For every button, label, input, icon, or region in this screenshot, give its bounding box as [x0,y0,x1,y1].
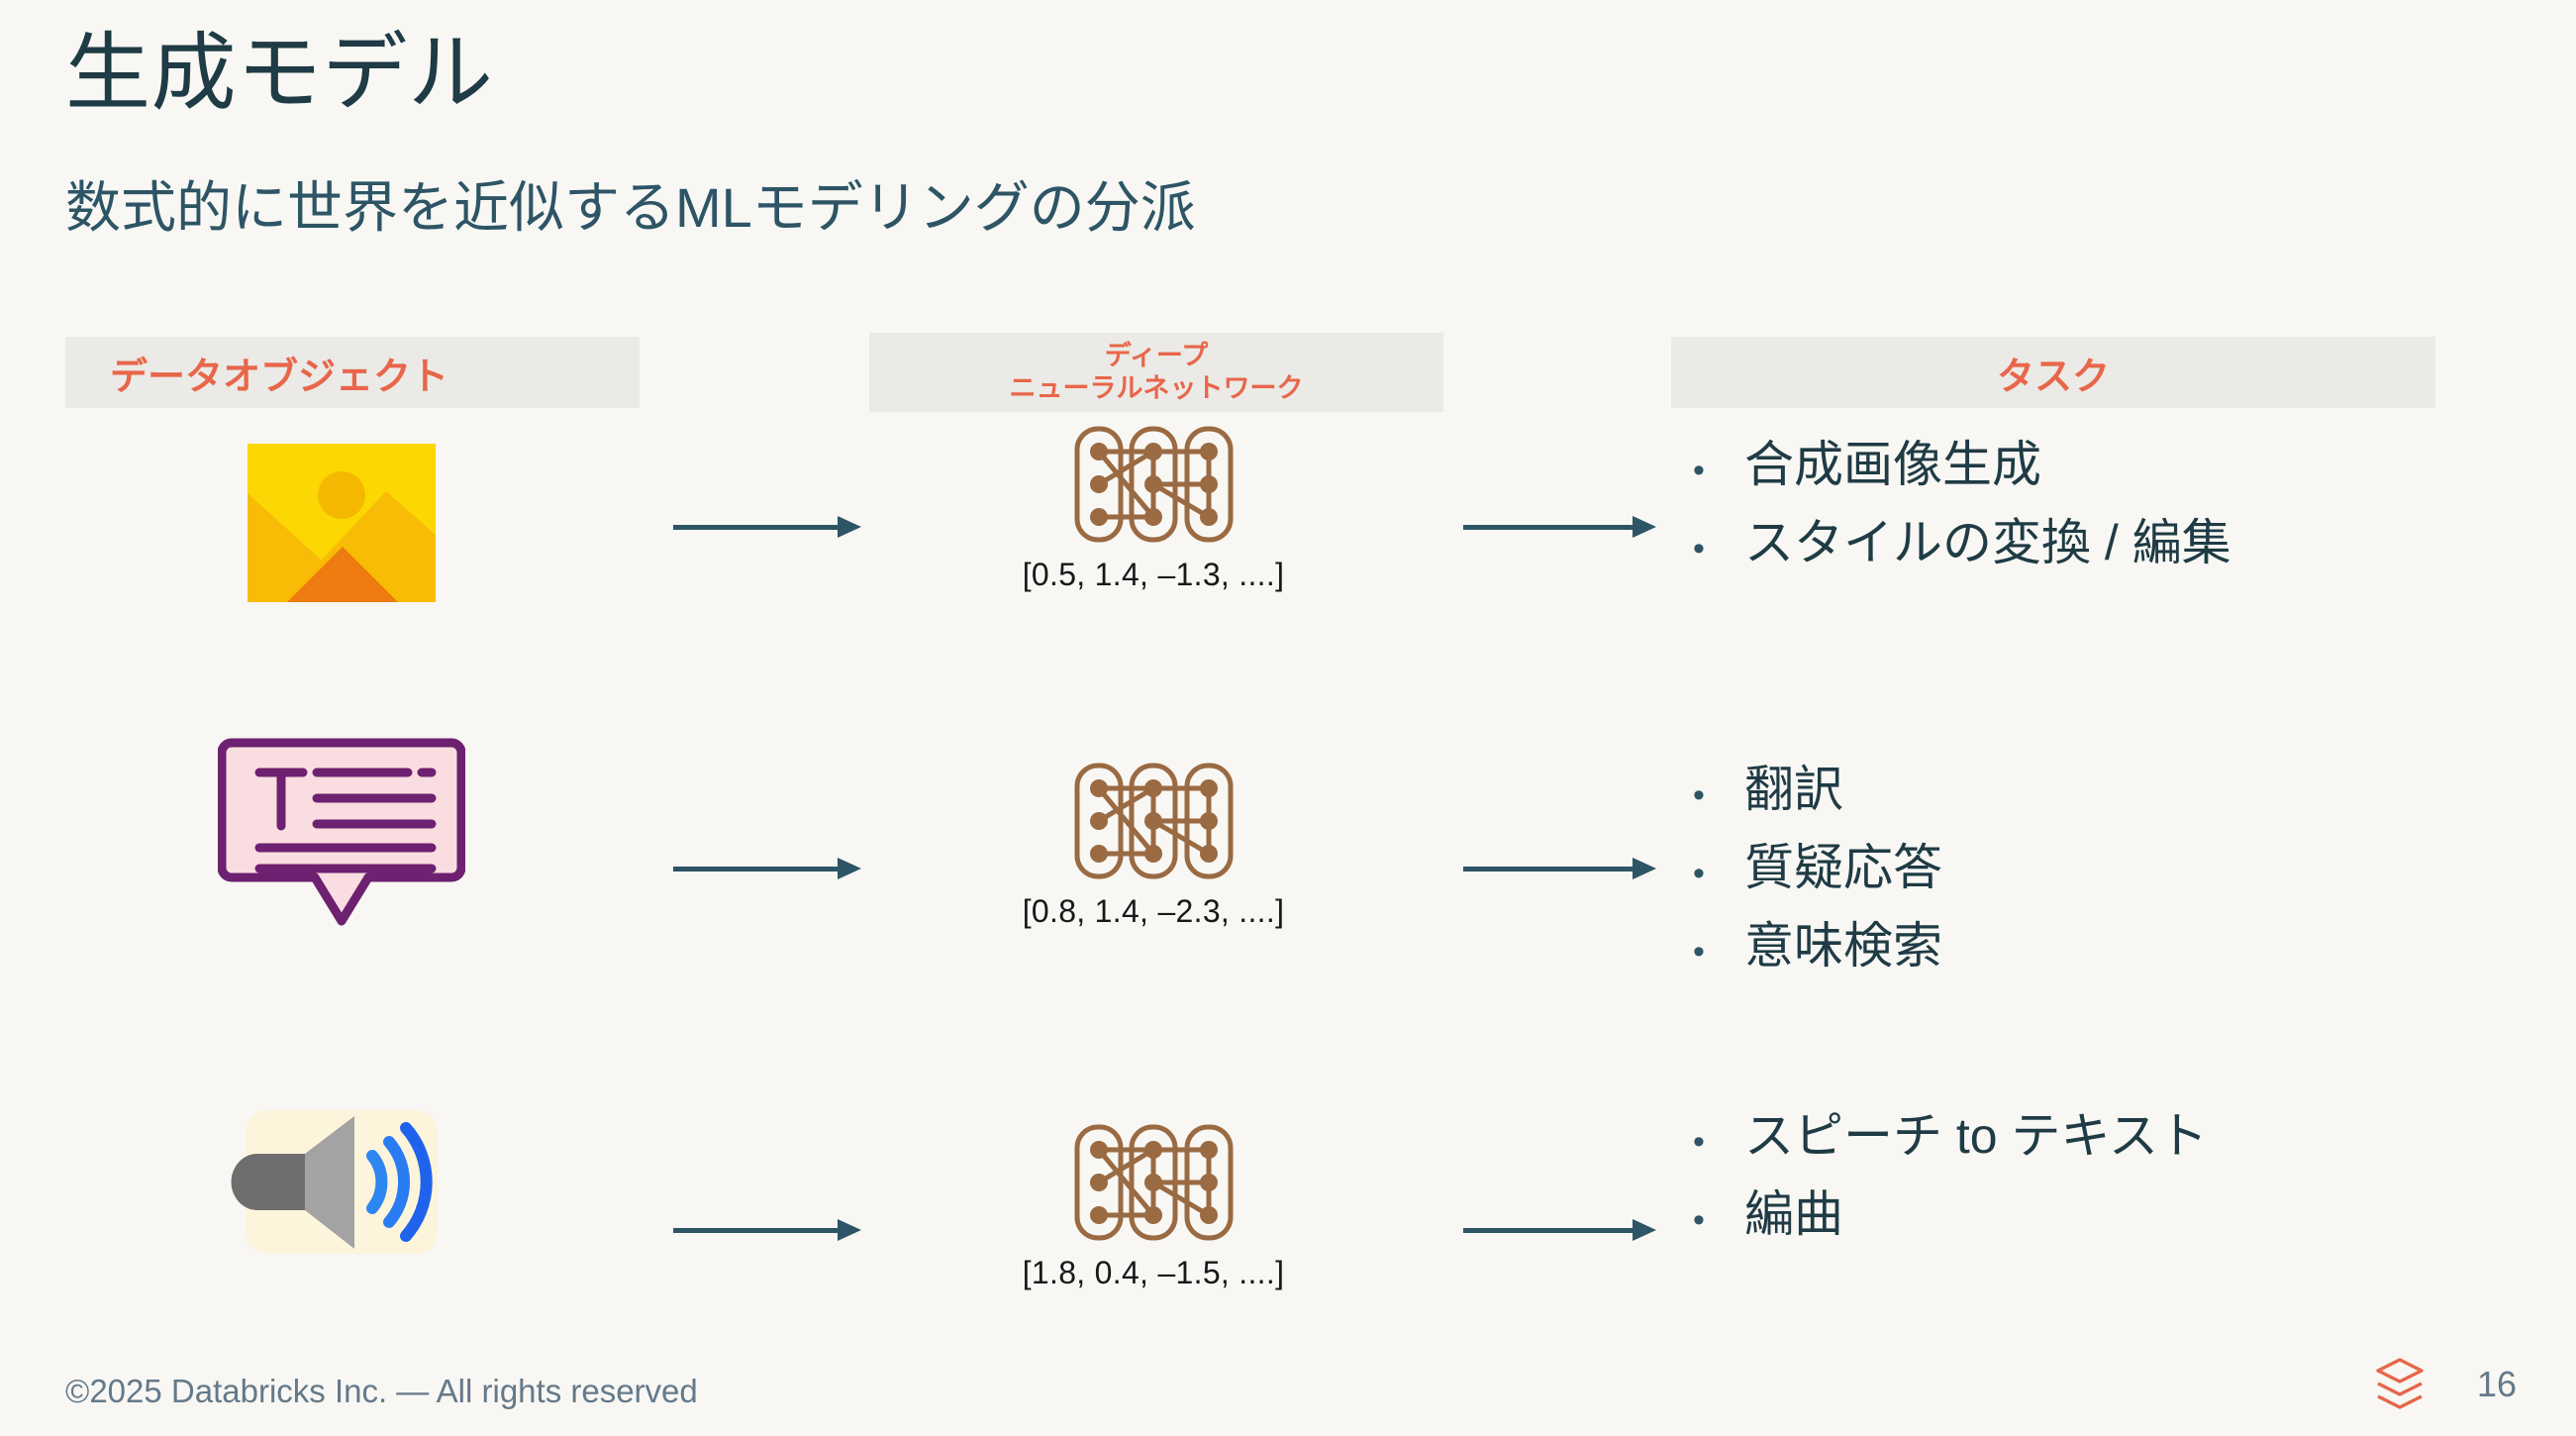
arrow-head [838,1219,861,1241]
task-list-text: • 翻訳 • 質疑応答 • 意味検索 [1683,751,2554,985]
neural-network-cell-3: [1.8, 0.4, –1.5, ....] [990,1122,1317,1291]
arrow-shaft [1463,525,1636,530]
task-label: 合成画像生成 [1744,426,2041,504]
bullet-icon: • [1683,848,1744,901]
page-title: 生成モデル [65,28,494,120]
pipeline-row-audio: [1.8, 0.4, –1.5, ....] • スピーチ to テキスト • … [0,1068,2576,1325]
list-item: • 翻訳 [1683,751,2554,829]
arrow-shaft [673,867,842,872]
column-header-dnn-line2: ニューラルネットワーク [1010,372,1304,405]
embedding-vector-3: [1.8, 0.4, –1.5, ....] [990,1255,1317,1291]
task-label: 意味検索 [1744,907,1942,985]
task-label: スタイルの変換 / 編集 [1744,504,2231,582]
arrow-network-to-task-1 [1463,523,1656,531]
embedding-vector-1: [0.5, 1.4, –1.3, ....] [990,557,1317,593]
arrow-shaft [673,1228,842,1233]
arrow-head [1633,516,1656,538]
task-label: 翻訳 [1744,751,1843,829]
column-header-task-label: タスク [1997,346,2110,400]
footer-right-group: 16 [2374,1357,2517,1412]
neural-network-cell-2: [0.8, 1.4, –2.3, ....] [990,761,1317,930]
column-header-data-object: データオブジェクト [65,337,640,408]
arrow-head [1633,1219,1656,1241]
neural-network-cell-1: [0.5, 1.4, –1.3, ....] [990,424,1317,593]
page-number: 16 [2477,1364,2517,1405]
column-header-deep-neural-network: ディープ ニューラルネットワーク [869,333,1443,412]
arrow-head [1633,858,1656,879]
neural-network-icon [1072,424,1236,545]
list-item: • スピーチ to テキスト [1683,1097,2554,1176]
task-list-audio: • スピーチ to テキスト • 編曲 [1683,1097,2554,1254]
column-header-data-object-label: データオブジェクト [110,346,448,400]
arrow-data-to-network-2 [673,865,861,872]
arrow-network-to-task-3 [1463,1226,1656,1234]
task-list-image: • 合成画像生成 • スタイルの変換 / 編集 [1683,426,2554,582]
data-object-cell-audio [178,1068,505,1295]
arrow-data-to-network-3 [673,1226,861,1234]
page-subtitle: 数式的に世界を近似するMLモデリングの分派 [65,176,1196,240]
pipeline-row-text: [0.8, 1.4, –2.3, ....] • 翻訳 • 質疑応答 • 意味検… [0,721,2576,988]
list-item: • 意味検索 [1683,907,2554,985]
task-label: 編曲 [1744,1176,1843,1254]
data-object-cell-text [178,721,505,934]
databricks-logo-icon [2374,1357,2426,1412]
arrow-head [838,516,861,538]
bullet-icon: • [1683,926,1744,979]
arrow-shaft [1463,867,1636,872]
list-item: • 質疑応答 [1683,829,2554,907]
embedding-vector-2: [0.8, 1.4, –2.3, ....] [990,893,1317,930]
data-object-cell-image [178,424,505,622]
pipeline-row-image: [0.5, 1.4, –1.3, ....] • 合成画像生成 • スタイルの変… [0,414,2576,662]
footer-copyright: ©2025 Databricks Inc. — All rights reser… [65,1373,698,1410]
image-icon [248,444,436,602]
speaker-icon [228,1071,455,1293]
arrow-network-to-task-2 [1463,865,1656,872]
slide-canvas: 生成モデル 数式的に世界を近似するMLモデリングの分派 データオブジェクト ディ… [0,0,2576,1436]
arrow-shaft [1463,1228,1636,1233]
list-item: • スタイルの変換 / 編集 [1683,504,2554,582]
list-item: • 合成画像生成 [1683,426,2554,504]
bullet-icon: • [1683,523,1744,576]
arrow-data-to-network-1 [673,523,861,531]
arrow-shaft [673,525,842,530]
bullet-icon: • [1683,445,1744,498]
task-label: スピーチ to テキスト [1744,1097,2208,1176]
bullet-icon: • [1683,769,1744,823]
neural-network-icon [1072,761,1236,881]
column-header-dnn-line1: ディープ [1105,340,1209,372]
bullet-icon: • [1683,1116,1744,1170]
task-label: 質疑応答 [1744,829,1942,907]
text-bubble-icon [218,729,465,927]
arrow-head [838,858,861,879]
column-header-task: タスク [1671,337,2435,408]
neural-network-icon [1072,1122,1236,1243]
list-item: • 編曲 [1683,1176,2554,1254]
bullet-icon: • [1683,1194,1744,1248]
